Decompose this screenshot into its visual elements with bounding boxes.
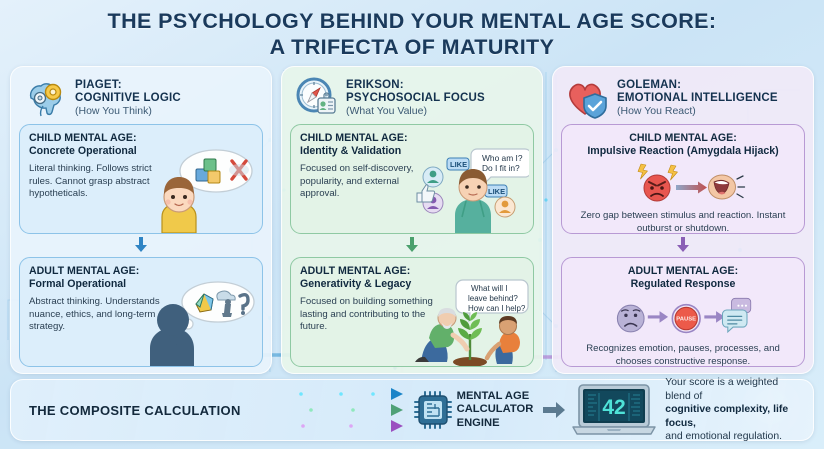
card-piaget-adult[interactable]: ADULT MENTAL AGE: Formal Operational Abs… xyxy=(19,257,263,367)
theory-columns: PIAGET: COGNITIVE LOGIC (How You Think) … xyxy=(10,66,814,374)
card-title: ADULT MENTAL AGE: xyxy=(29,265,253,278)
card-title: CHILD MENTAL AGE: xyxy=(29,132,253,145)
angry-face-to-shouting-mouth-icon xyxy=(571,161,795,209)
card-piaget-child[interactable]: CHILD MENTAL AGE: Concrete Operational L… xyxy=(19,124,263,234)
panel-piaget: PIAGET: COGNITIVE LOGIC (How You Think) … xyxy=(10,66,272,374)
speech-line-2: Do I fit in? xyxy=(482,163,520,173)
arrow-down-erikson xyxy=(290,234,534,257)
teen-social-likes-icon: Who am I? Do I fit in? LIKE LIKE xyxy=(411,145,529,233)
blurb-line-1: Your score is a weighted blend of xyxy=(665,376,803,403)
like-badge-1: LIKE xyxy=(447,158,469,170)
heart-shield-icon xyxy=(565,76,609,120)
title-line-1: THE PSYCHOLOGY BEHIND YOUR MENTAL AGE SC… xyxy=(0,8,824,34)
card-body: Zero gap between stimulus and reaction. … xyxy=(571,210,795,234)
speech-line-1: Who am I? xyxy=(482,153,523,163)
score-explanation: Your score is a weighted blend of cognit… xyxy=(665,376,803,444)
card-title: CHILD MENTAL AGE: xyxy=(300,132,524,145)
sad-face-pause-button-dialogue-icon: PAUSE xyxy=(571,294,795,342)
panel-subtitle-erikson: PSYCHOSOCIAL FOCUS xyxy=(346,92,485,105)
card-title: ADULT MENTAL AGE: xyxy=(300,265,524,278)
panel-paren-goleman: (How You React) xyxy=(617,106,778,118)
arrow-right-icon xyxy=(542,400,566,420)
panel-erikson: ERIKSON: PSYCHOSOCIAL FOCUS (What You Va… xyxy=(281,66,543,374)
panel-title-piaget: PIAGET: xyxy=(75,79,181,92)
like-badge-2: LIKE xyxy=(485,185,507,197)
card-goleman-adult[interactable]: ADULT MENTAL AGE: Regulated Response PAU… xyxy=(561,257,805,367)
svg-text:LIKE: LIKE xyxy=(450,160,467,169)
panel-goleman: GOLEMAN: EMOTIONAL INTELLIGENCE (How You… xyxy=(552,66,814,374)
blurb-line-2: cognitive complexity, life focus, xyxy=(665,403,803,430)
engine-line-2: CALCULATOR xyxy=(457,403,534,417)
panel-subtitle-piaget: COGNITIVE LOGIC xyxy=(75,92,181,105)
card-erikson-child[interactable]: CHILD MENTAL AGE: Identity & Validation … xyxy=(290,124,534,234)
cpu-chip-icon xyxy=(413,390,453,430)
elder-planting-tree-with-child-icon: What will I leave behind? How can I help… xyxy=(411,278,529,366)
card-subtitle: Impulsive Reaction (Amygdala Hijack) xyxy=(571,145,795,158)
panel-header-piaget: PIAGET: COGNITIVE LOGIC (How You Think) xyxy=(19,74,263,124)
brain-gear-icon xyxy=(23,76,67,120)
panel-paren-erikson: (What You Value) xyxy=(346,106,485,118)
engine-line-1: MENTAL AGE xyxy=(457,390,534,404)
title-line-2: A TRIFECTA OF MATURITY xyxy=(0,34,824,60)
card-subtitle: Regulated Response xyxy=(571,278,795,291)
card-body: Recognizes emotion, pauses, processes, a… xyxy=(571,343,795,367)
engine-line-3: ENGINE xyxy=(457,417,534,431)
child-thinking-blocks-icon xyxy=(140,145,258,233)
panel-subtitle-goleman: EMOTIONAL INTELLIGENCE xyxy=(617,92,778,105)
svg-text:What will I: What will I xyxy=(471,284,507,293)
blurb-line-3: and emotional regulation. xyxy=(665,430,803,444)
card-goleman-child[interactable]: CHILD MENTAL AGE: Impulsive Reaction (Am… xyxy=(561,124,805,234)
svg-text:LIKE: LIKE xyxy=(488,187,505,196)
card-title: ADULT MENTAL AGE: xyxy=(571,265,795,278)
pause-label: PAUSE xyxy=(676,317,696,323)
card-erikson-adult[interactable]: ADULT MENTAL AGE: Generativity & Legacy … xyxy=(290,257,534,367)
svg-text:How can I help?: How can I help? xyxy=(468,304,526,313)
panel-header-goleman: GOLEMAN: EMOTIONAL INTELLIGENCE (How You… xyxy=(561,74,805,124)
composite-label: THE COMPOSITE CALCULATION xyxy=(29,403,241,418)
compass-id-badge-icon xyxy=(294,76,338,120)
composite-calculation-bar: THE COMPOSITE CALCULATION xyxy=(10,379,814,441)
page-title: THE PSYCHOLOGY BEHIND YOUR MENTAL AGE SC… xyxy=(0,8,824,60)
arrow-down-goleman xyxy=(561,234,805,257)
panel-title-goleman: GOLEMAN: xyxy=(617,79,778,92)
engine-label: MENTAL AGE CALCULATOR ENGINE xyxy=(457,390,534,431)
arrow-down-piaget xyxy=(19,234,263,257)
composite-flow-arrows xyxy=(241,381,411,439)
score-display-laptop[interactable]: 42 xyxy=(571,383,657,437)
svg-text:leave behind?: leave behind? xyxy=(468,294,518,303)
score-value: 42 xyxy=(603,396,626,419)
adult-silhouette-thinking-icon xyxy=(140,278,258,366)
panel-header-erikson: ERIKSON: PSYCHOSOCIAL FOCUS (What You Va… xyxy=(290,74,534,124)
panel-paren-piaget: (How You Think) xyxy=(75,106,181,118)
card-title: CHILD MENTAL AGE: xyxy=(571,132,795,145)
panel-title-erikson: ERIKSON: xyxy=(346,79,485,92)
